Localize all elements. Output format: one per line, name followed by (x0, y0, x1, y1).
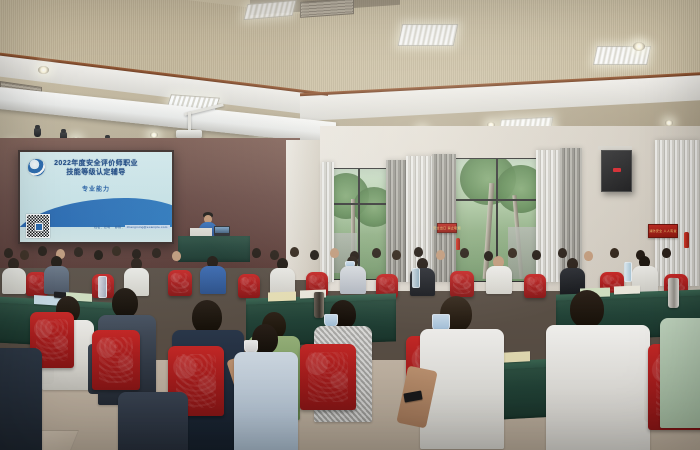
chair (168, 270, 192, 296)
thermos-flask (668, 278, 679, 308)
attendee-torso (234, 352, 298, 450)
laptop-screen (215, 227, 229, 233)
attendee-head (112, 288, 138, 318)
slide-title-line1: 2022年度安全评价师职业 (20, 160, 172, 169)
chair-foreground (300, 344, 356, 410)
safety-sign-window: 安全出口 禁止吸烟 (437, 223, 457, 233)
slide-contact-line: 姓名：张明 邮箱：zhangming@example.com (94, 224, 170, 229)
water-bottle (412, 268, 420, 288)
handout-document (614, 286, 640, 295)
handout-document (268, 292, 296, 302)
attendee-torso (118, 392, 188, 450)
qr-code-center-logo (35, 223, 44, 232)
window-mullion (456, 199, 540, 201)
ceiling-downlight-2 (38, 66, 49, 74)
attendee-torso (44, 266, 69, 294)
attendee-head (570, 290, 604, 328)
safety-sign-wall-text: 消防安全 人人有责 (649, 229, 677, 233)
chair-foreground (92, 330, 140, 390)
attendee-torso (486, 266, 512, 294)
qr-code (26, 214, 50, 238)
slide-content: 2022年度安全评价师职业 技能等级认定辅导 专业能力 姓名：张明 邮箱：zha… (20, 152, 172, 242)
contact-name-value: 张明 (104, 225, 111, 229)
projection-screen: 2022年度安全评价师职业 技能等级认定辅导 专业能力 姓名：张明 邮箱：zha… (18, 150, 174, 244)
contact-email-label: 邮箱： (115, 225, 125, 229)
attendee-torso (2, 268, 26, 294)
projector (176, 130, 202, 138)
jbl-logo (613, 168, 621, 172)
attendee-torso (660, 318, 700, 428)
handout-document (500, 351, 530, 363)
attendee-torso (546, 325, 650, 450)
safety-sign-window-text: 安全出口 禁止吸烟 (433, 226, 461, 230)
slide-subtitle: 专业能力 (20, 184, 172, 193)
chair (238, 274, 260, 298)
water-bottle (624, 262, 632, 282)
attendee-torso (340, 266, 366, 294)
thermos-flask (314, 292, 324, 318)
contact-email-value: zhangming@example.com (125, 225, 170, 229)
tree-foliage (496, 165, 541, 213)
slide-title: 2022年度安全评价师职业 技能等级认定辅导 (20, 160, 172, 178)
projector-mount-pole (188, 112, 191, 132)
attendee-torso (200, 266, 226, 294)
water-bottle (98, 276, 107, 298)
track-spotlight-1 (34, 128, 41, 137)
conference-room-photo: 安全出口 禁止吸烟 消防安全 人人有责 2022年度安全评价师职业 技能等级认定… (0, 0, 700, 450)
ceiling-light-troffer-1 (398, 24, 459, 46)
attendee-torso (0, 348, 42, 450)
wall-speaker (601, 150, 632, 192)
chair (450, 271, 474, 297)
window-mullion (331, 203, 389, 205)
ceiling-downlight-1 (633, 42, 645, 51)
contact-name-label: 姓名： (94, 225, 104, 229)
attendee-head (192, 300, 222, 334)
chair (524, 274, 546, 298)
slide-title-line2: 技能等级认定辅导 (20, 169, 172, 178)
presenter-laptop (214, 226, 230, 236)
